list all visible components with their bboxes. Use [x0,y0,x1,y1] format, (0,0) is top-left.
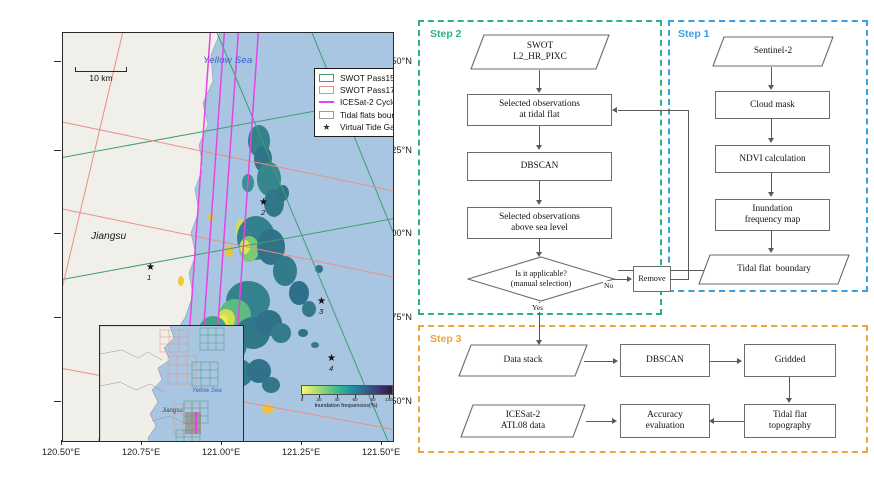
colorbar-tick-0: 0 [301,397,304,402]
map-xtick-label-3: 121.25°E [271,447,331,457]
arrowhead-inundation-to-boundary [768,248,774,253]
node-tidal-flat-topography-label: Tidal flattopography [769,410,811,432]
colorbar-tick-5: 100 [385,397,393,402]
virtual-tide-gauge-2[interactable]: ★ [259,198,268,208]
inundation-colorbar: 0 20 40 60 80 100 Inundation frequencies… [301,385,391,409]
arrow-pixc-to-selobs [539,70,540,90]
node-accuracy-evaluation-label: Accuracyevaluation [646,410,685,432]
arrowhead-dbscan3-to-gridded [737,358,742,364]
node-tidal-flat-boundary-label: Tidal flat boundary [698,254,850,285]
node-sentinel2[interactable]: Sentinel-2 [712,36,834,67]
node-ndvi-calculation-label: NDVI calculation [739,154,805,165]
legend-item-swot-pass172[interactable]: SWOT Pass172 [319,84,394,96]
node-dbscan-step2-label: DBSCAN [521,161,559,172]
virtual-tide-gauge-label-4: 4 [329,364,333,373]
node-icesat2-atl08[interactable]: ICESat-2ATL08 data [460,404,586,438]
map-xtick-label-2: 121.00°E [191,447,251,457]
node-selected-observations-label: Selected observationsat tidal flat [499,99,580,121]
legend-label-0: SWOT Pass159 [340,73,394,83]
virtual-tide-gauge-label-2: 2 [261,208,265,217]
node-tidal-flat-topography[interactable]: Tidal flattopography [744,404,836,438]
node-inundation-frequency-map-label: Inundationfrequency map [745,204,801,226]
swot-pass159-swatch-icon [319,74,334,82]
arrowhead-ndvi-to-inundation [768,192,774,197]
node-data-stack-label: Data stack [458,344,588,377]
swot-pass172-swatch-icon [319,86,334,94]
arrow-topography-to-accuracy [714,421,744,422]
node-gridded-label: Gridded [775,355,805,366]
inset-study-area-box [185,412,201,434]
arrowhead-cloudmask-to-ndvi [768,138,774,143]
arrow-icesat2-to-accuracy [586,421,614,422]
arrowhead-pixc-to-selobs [536,88,542,93]
study-area-map-panel: 33.50°N 33.25°N 33.00°N 32.75°N 32.50°N … [0,0,412,492]
map-ytick-0 [54,61,61,62]
node-is-applicable-label: Is it applicable?(manual selection) [467,256,615,302]
map-canvas[interactable]: 10 km Yellow Sea Jiangsu ★ 1 ★ 2 ★ 3 ★ 4… [62,32,394,442]
node-remove[interactable]: Remove [633,266,671,292]
node-remove-label: Remove [638,274,665,284]
arrowhead-datastack-to-dbscan3 [613,358,618,364]
legend-item-icesat2[interactable]: ICESat-2 Cycle 02472 [319,96,394,108]
step3-label: Step 3 [428,333,464,345]
virtual-tide-gauge-1[interactable]: ★ [146,263,155,273]
node-accuracy-evaluation[interactable]: Accuracyevaluation [620,404,710,438]
node-is-applicable-decision[interactable]: Is it applicable?(manual selection) [467,256,615,302]
node-above-sea-level-label: Selected observationsabove sea level [499,212,580,234]
star-icon: ★ [319,123,334,131]
arrow-sentinel2-to-cloudmask [771,67,772,87]
node-gridded[interactable]: Gridded [744,344,836,377]
node-dbscan-step3[interactable]: DBSCAN [620,344,710,377]
step2-label: Step 2 [428,28,464,40]
node-cloud-mask-label: Cloud mask [750,100,795,111]
map-ytick-4 [54,401,61,402]
virtual-tide-gauge-3[interactable]: ★ [317,297,326,307]
virtual-tide-gauge-label-3: 3 [319,307,323,316]
arrow-remove-back [618,110,689,111]
map-ytick-2 [54,233,61,234]
node-ndvi-calculation[interactable]: NDVI calculation [715,145,830,173]
node-swot-pixc-label: SWOTL2_HR_PIXC [470,34,610,70]
node-tidal-flat-boundary[interactable]: Tidal flat boundary [698,254,850,285]
legend-item-swot-pass159[interactable]: SWOT Pass159 [319,72,394,84]
node-dbscan-step3-label: DBSCAN [646,355,684,366]
colorbar-tick-3: 60 [352,397,357,402]
inset-locator-map[interactable]: Yellow Sea Jiangsu [99,325,244,442]
legend-label-3: Tidal flats boundary [340,110,394,120]
node-inundation-frequency-map[interactable]: Inundationfrequency map [715,199,830,231]
arrowhead-gridded-to-topography [786,398,792,403]
map-xtick-label-1: 120.75°E [111,447,171,457]
colorbar-title: Inundation frequencies(%) [301,403,391,409]
node-above-sea-level[interactable]: Selected observationsabove sea level [467,207,612,239]
inset-basemap [100,326,243,442]
arrow-datastack-to-dbscan3 [584,361,616,362]
colorbar-gradient [301,385,393,395]
arrow-dbscan3-to-gridded [710,361,740,362]
map-xtick-label-4: 121.50°E [351,447,411,457]
colorbar-tick-1: 20 [316,397,321,402]
colorbar-tick-2: 40 [334,397,339,402]
inset-jiangsu-label: Jiangsu [162,408,183,414]
arrowhead-remove-back [612,107,617,113]
step1-label: Step 1 [676,28,712,40]
map-scalebar: 10 km [75,71,127,83]
inset-yellow-sea-label: Yellow Sea [192,388,222,394]
yellow-sea-label: Yellow Sea [203,55,252,66]
icesat2-line-icon [319,101,334,103]
node-swot-pixc[interactable]: SWOTL2_HR_PIXC [470,34,610,70]
scalebar-label: 10 km [75,73,127,83]
legend-label-4: Virtual Tide Gauge [340,122,394,132]
arrowhead-decision-to-remove [627,276,632,282]
figure-root: 33.50°N 33.25°N 33.00°N 32.75°N 32.50°N … [0,0,874,492]
legend-item-virtual-tide-gauge[interactable]: ★ Virtual Tide Gauge [319,121,394,133]
map-xtick-label-0: 120.50°E [31,447,91,457]
arrowhead-dbscan-to-abovesea [536,200,542,205]
arrow-remove-up [688,110,689,280]
tidal-flats-swatch-icon [319,111,334,119]
arrowhead-icesat2-to-accuracy [612,418,617,424]
map-ytick-1 [54,150,61,151]
node-selected-observations[interactable]: Selected observationsat tidal flat [467,94,612,126]
jiangsu-label: Jiangsu [91,231,126,242]
arrow-remove-right [671,279,689,280]
scalebar-line [75,71,127,72]
legend-item-tidal-flats-boundary[interactable]: Tidal flats boundary [319,109,394,121]
virtual-tide-gauge-label-1: 1 [147,273,151,282]
node-data-stack[interactable]: Data stack [458,344,588,377]
arrowhead-selobs-to-dbscan [536,145,542,150]
node-cloud-mask[interactable]: Cloud mask [715,91,830,119]
map-ytick-3 [54,317,61,318]
colorbar-ticks: 0 20 40 60 80 100 [301,395,391,402]
edge-label-no: No [603,281,614,290]
node-icesat2-atl08-label: ICESat-2ATL08 data [460,404,586,438]
map-legend[interactable]: SWOT Pass159 SWOT Pass172 ICESat-2 Cycle… [314,68,394,137]
legend-label-2: ICESat-2 Cycle 02472 [340,97,394,107]
node-dbscan-step2[interactable]: DBSCAN [467,152,612,181]
virtual-tide-gauge-4[interactable]: ★ [327,354,336,364]
legend-label-1: SWOT Pass172 [340,85,394,95]
node-sentinel2-label: Sentinel-2 [712,36,834,67]
edge-label-yes: Yes [531,303,544,312]
colorbar-tick-4: 80 [370,397,375,402]
arrowhead-sentinel2-to-cloudmask [768,85,774,90]
workflow-flowchart: Step 2 SWOTL2_HR_PIXC Selected observati… [412,0,874,492]
